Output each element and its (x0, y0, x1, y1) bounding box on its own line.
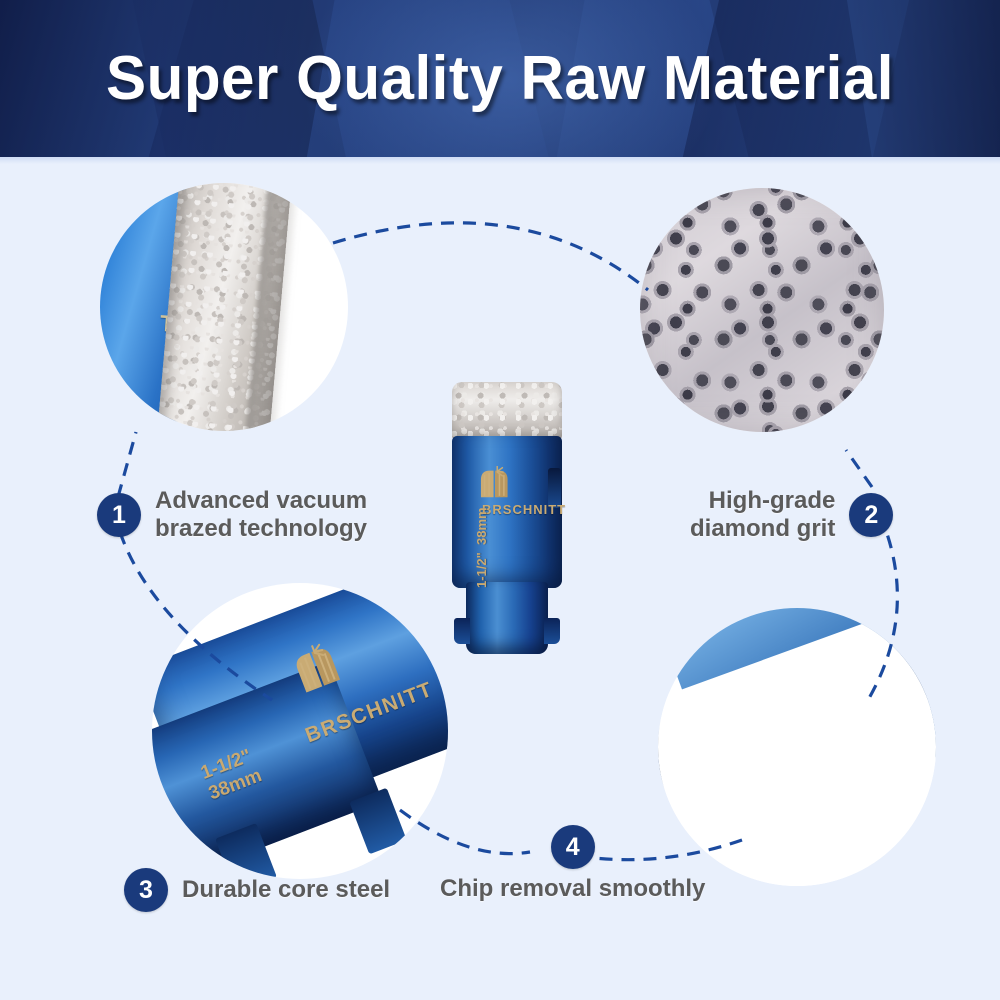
connector-2-to-photo2 (846, 450, 872, 487)
connector-photo1-to-photo2 (333, 223, 648, 290)
banner-underline (0, 157, 1000, 164)
callout-number-badge: 2 (849, 493, 893, 537)
product-size-marking: 1-1/2" 38mm (474, 507, 490, 588)
callout-number-badge: 4 (551, 825, 595, 869)
callout-1[interactable]: 1 Advanced vacuum brazed technology (97, 487, 367, 544)
product-brand-wordmark: BRSCHNITT (482, 502, 566, 517)
product-shank (466, 582, 548, 654)
brand-logo-icon (478, 466, 512, 499)
header-banner: Super Quality Raw Material (0, 0, 1000, 157)
photo-diamond-grit (640, 188, 884, 432)
page-title: Super Quality Raw Material (15, 0, 985, 157)
shank-flat-right (544, 618, 560, 644)
callout-label: High-grade diamond grit (690, 487, 835, 544)
callout-3[interactable]: 3 Durable core steel (124, 868, 390, 912)
diamond-crown (452, 382, 562, 440)
callout-label: Advanced vacuum brazed technology (155, 487, 367, 544)
photo-brazed-technology: TT (100, 183, 348, 431)
callout-label: Chip removal smoothly (440, 875, 705, 903)
callout-2[interactable]: 2 High-grade diamond grit (690, 487, 893, 544)
diamond-grit-texture (640, 188, 884, 432)
callout-number-badge: 1 (97, 493, 141, 537)
core-notch (349, 788, 406, 855)
photo-core-steel: BRSCHNITT 1-1/2"38mm (152, 583, 448, 879)
product-drill-bit: BRSCHNITT 1-1/2" 38mm (430, 382, 582, 667)
callout-4[interactable]: 4 Chip removal smoothly (440, 825, 705, 903)
shank-flat-left (454, 618, 470, 644)
callout-number-badge: 3 (124, 868, 168, 912)
callout-label: Durable core steel (182, 876, 390, 904)
infographic-canvas: Super Quality Raw Material TT (0, 0, 1000, 1000)
